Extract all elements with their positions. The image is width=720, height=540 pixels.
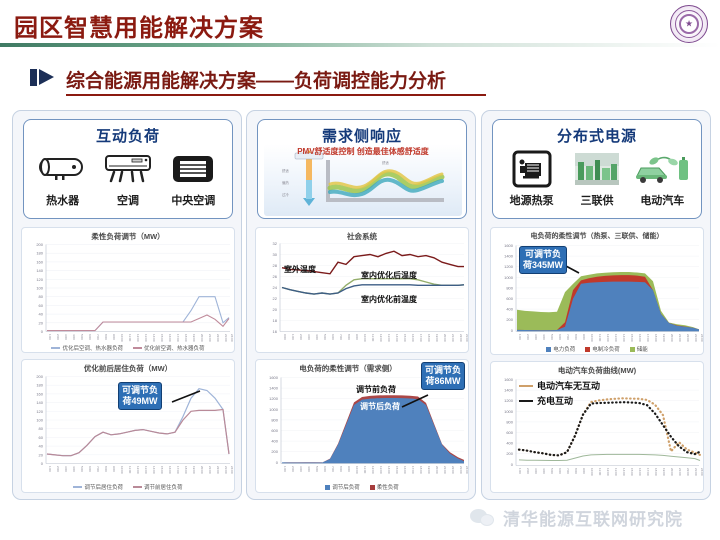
svg-text:24:00: 24:00 xyxy=(465,466,469,474)
legend-label: 调节后负荷 xyxy=(332,483,360,491)
svg-text:12:00: 12:00 xyxy=(606,334,610,342)
legend-label: 电力负荷 xyxy=(553,345,575,353)
section-subtitle-row: 综合能源用能解决方案——负荷调控能力分析 xyxy=(0,62,720,98)
svg-text:120: 120 xyxy=(36,277,43,282)
svg-text:10:00: 10:00 xyxy=(120,466,124,474)
svg-text:9:00: 9:00 xyxy=(582,334,586,340)
svg-text:10:00: 10:00 xyxy=(120,334,124,342)
svg-text:4:00: 4:00 xyxy=(542,468,546,474)
legend-swatch xyxy=(519,385,533,387)
icon-cell-ground-source-heat-pump: 地源热泵 xyxy=(500,148,564,208)
svg-text:1600: 1600 xyxy=(504,377,514,382)
icon-cell-water-heater: 热水器 xyxy=(31,148,95,208)
svg-text:20:00: 20:00 xyxy=(200,334,204,342)
svg-text:40: 40 xyxy=(39,312,44,317)
svg-text:0: 0 xyxy=(276,460,279,465)
svg-text:6:00: 6:00 xyxy=(323,466,327,472)
svg-text:6:00: 6:00 xyxy=(558,468,562,474)
icon-cell-air-conditioner: 空调 xyxy=(96,148,160,208)
svg-text:21:00: 21:00 xyxy=(208,466,212,474)
svg-text:3:00: 3:00 xyxy=(534,468,538,474)
svg-text:23:00: 23:00 xyxy=(694,468,698,476)
svg-text:15:00: 15:00 xyxy=(160,466,164,474)
svg-text:12:00: 12:00 xyxy=(136,466,140,474)
panel-demand-side-response: 需求侧响应 PMV舒适度控制 创造最佳体感舒适度 舒适偏热过冷 舒适 xyxy=(257,119,467,219)
icon-caption: 中央空调 xyxy=(161,192,225,208)
icon-caption: 电动汽车 xyxy=(630,192,694,208)
svg-text:2:00: 2:00 xyxy=(526,468,530,474)
svg-text:15:00: 15:00 xyxy=(160,334,164,342)
svg-text:14:00: 14:00 xyxy=(152,466,156,474)
svg-text:80: 80 xyxy=(39,294,44,299)
svg-text:21:00: 21:00 xyxy=(678,334,682,342)
svg-text:20:00: 20:00 xyxy=(670,334,674,342)
svg-text:12:00: 12:00 xyxy=(371,466,375,474)
svg-text:60: 60 xyxy=(39,303,44,308)
svg-text:23:00: 23:00 xyxy=(224,466,228,474)
legend-label: 调节后居住负荷 xyxy=(84,483,123,491)
legend-label: 电制冷负荷 xyxy=(592,345,620,353)
svg-text:16: 16 xyxy=(273,329,278,334)
callout-line-2: 荷345MW xyxy=(523,260,563,271)
icon-caption: 地源热泵 xyxy=(500,192,564,208)
svg-text:1:00: 1:00 xyxy=(48,466,52,472)
callout-line-1: 可调节负 xyxy=(122,385,158,396)
svg-text:舒适: 舒适 xyxy=(282,168,289,173)
panel-interactive-load: 互动负荷 热水器 xyxy=(23,119,233,219)
svg-text:0: 0 xyxy=(511,328,514,333)
svg-text:1:00: 1:00 xyxy=(283,466,287,472)
svg-text:800: 800 xyxy=(271,417,278,422)
callout-adjustable-load: 可调节负 荷49MW xyxy=(118,382,162,410)
svg-text:过冷: 过冷 xyxy=(282,192,289,197)
electric-vehicle-icon xyxy=(630,148,694,190)
column-demand-side-response: 需求侧响应 PMV舒适度控制 创造最佳体感舒适度 舒适偏热过冷 舒适 xyxy=(246,110,476,500)
svg-text:13:00: 13:00 xyxy=(144,466,148,474)
chart-residential-load: 优化前后居住负荷（MW） 200180160 140120100 806040 … xyxy=(21,359,235,493)
svg-text:30: 30 xyxy=(273,252,278,257)
svg-text:19:00: 19:00 xyxy=(435,334,439,342)
chart-electric-load-demand-side: 电负荷的柔性调节（需求侧） 160014001200 1000800600 40… xyxy=(255,359,469,493)
legend-label: 优化前空调、热水器负荷 xyxy=(144,344,205,352)
svg-text:18:00: 18:00 xyxy=(419,466,423,474)
svg-text:23:00: 23:00 xyxy=(459,466,463,474)
svg-text:5:00: 5:00 xyxy=(80,466,84,472)
svg-text:32: 32 xyxy=(273,241,278,246)
svg-text:6:00: 6:00 xyxy=(88,334,92,340)
svg-text:8:00: 8:00 xyxy=(574,334,578,340)
icon-cell-electric-vehicle: 电动汽车 xyxy=(630,148,694,208)
svg-text:1600: 1600 xyxy=(504,243,514,248)
svg-text:7:00: 7:00 xyxy=(96,334,100,340)
svg-text:17:00: 17:00 xyxy=(411,466,415,474)
svg-text:16:00: 16:00 xyxy=(638,334,642,342)
svg-text:9:00: 9:00 xyxy=(112,466,116,472)
svg-text:9:00: 9:00 xyxy=(582,468,586,474)
svg-text:13:00: 13:00 xyxy=(387,334,391,342)
svg-text:偏热: 偏热 xyxy=(282,180,289,185)
svg-text:3:00: 3:00 xyxy=(299,466,303,472)
svg-text:24:00: 24:00 xyxy=(700,468,704,476)
svg-text:14:00: 14:00 xyxy=(152,334,156,342)
svg-text:23:00: 23:00 xyxy=(694,334,698,342)
svg-text:17:00: 17:00 xyxy=(646,468,650,476)
legend-item-charging-interaction: 充电互动 xyxy=(519,394,573,407)
svg-text:0: 0 xyxy=(511,462,514,467)
svg-text:23:00: 23:00 xyxy=(224,334,228,342)
legend-label: 调节前居住负荷 xyxy=(144,483,183,491)
svg-text:19:00: 19:00 xyxy=(192,466,196,474)
svg-text:1200: 1200 xyxy=(504,398,514,403)
legend-label: 电动汽车无互动 xyxy=(537,379,600,392)
svg-text:24:00: 24:00 xyxy=(700,334,704,342)
legend-label: 充电互动 xyxy=(537,394,573,407)
svg-text:7:00: 7:00 xyxy=(566,468,570,474)
svg-text:160: 160 xyxy=(36,391,43,396)
svg-text:1200: 1200 xyxy=(504,264,514,269)
svg-text:22:00: 22:00 xyxy=(686,468,690,476)
svg-text:21:00: 21:00 xyxy=(678,468,682,476)
central-air-conditioner-icon xyxy=(161,148,225,190)
series-label-before-regulation: 调节前负荷 xyxy=(356,384,396,395)
svg-text:2:00: 2:00 xyxy=(291,466,295,472)
series-label-after-regulation: 调节后负荷 xyxy=(360,401,400,412)
svg-text:10:00: 10:00 xyxy=(355,466,359,474)
chart-flexible-load-regulation: 柔性负荷调节（MW） 200180160 140120100 806040 20… xyxy=(21,227,235,353)
svg-text:1000: 1000 xyxy=(269,407,279,412)
svg-text:24: 24 xyxy=(273,285,278,290)
svg-text:10:00: 10:00 xyxy=(363,334,367,342)
svg-text:1400: 1400 xyxy=(504,254,514,259)
icon-row: 热水器 空调 xyxy=(24,148,232,208)
legend-swatch xyxy=(519,400,533,402)
svg-text:22:00: 22:00 xyxy=(451,466,455,474)
bullet-marker-icon xyxy=(30,69,56,86)
icon-caption: 三联供 xyxy=(565,192,629,208)
svg-text:200: 200 xyxy=(506,451,513,456)
svg-text:15:00: 15:00 xyxy=(403,334,407,342)
svg-text:160: 160 xyxy=(36,259,43,264)
svg-text:6:00: 6:00 xyxy=(88,466,92,472)
svg-text:10:00: 10:00 xyxy=(590,334,594,342)
svg-text:15:00: 15:00 xyxy=(630,334,634,342)
svg-text:26: 26 xyxy=(273,274,278,279)
svg-text:1000: 1000 xyxy=(504,275,514,280)
svg-text:18:00: 18:00 xyxy=(654,468,658,476)
svg-text:0:00: 0:00 xyxy=(283,334,287,340)
icon-row: 地源热泵 三联供 xyxy=(493,148,701,208)
chart-legend: 调节后居住负荷 调节前居住负荷 xyxy=(22,483,234,491)
chart-legend: 电力负荷 电制冷负荷 储能 xyxy=(491,345,703,353)
svg-text:2:00: 2:00 xyxy=(299,334,303,340)
chart-ev-load-curve: 电动汽车负荷曲线(MW) 160014001200 1000800600 400… xyxy=(490,361,704,493)
svg-text:7:00: 7:00 xyxy=(566,334,570,340)
svg-text:7:00: 7:00 xyxy=(331,466,335,472)
svg-text:28: 28 xyxy=(273,263,278,268)
svg-text:400: 400 xyxy=(271,439,278,444)
svg-text:200: 200 xyxy=(36,374,43,379)
tsinghua-university-seal-icon: ★ xyxy=(670,5,708,43)
svg-text:600: 600 xyxy=(506,296,513,301)
chart-plot-area: 323028 262422 201816 0:001:00 2:003:00 4… xyxy=(256,228,469,353)
pmv-comfort-control-illustration: PMV舒适度控制 创造最佳体感舒适度 舒适偏热过冷 舒适 xyxy=(264,144,462,216)
svg-text:8:00: 8:00 xyxy=(104,466,108,472)
icon-cell-trigeneration: 三联供 xyxy=(565,148,629,208)
svg-text:21:00: 21:00 xyxy=(451,334,455,342)
svg-text:18: 18 xyxy=(273,318,278,323)
svg-text:60: 60 xyxy=(39,435,44,440)
svg-text:2:00: 2:00 xyxy=(526,334,530,340)
series-label-indoor-after: 室内优化后温度 xyxy=(361,270,417,281)
footer-branding: 清华能源互联网研究院 xyxy=(470,505,683,530)
svg-text:16:00: 16:00 xyxy=(411,334,415,342)
svg-text:9:00: 9:00 xyxy=(355,334,359,340)
svg-text:4:00: 4:00 xyxy=(72,466,76,472)
svg-text:16:00: 16:00 xyxy=(403,466,407,474)
svg-text:800: 800 xyxy=(506,419,513,424)
svg-text:120: 120 xyxy=(36,409,43,414)
svg-text:4:00: 4:00 xyxy=(542,334,546,340)
svg-text:24:00: 24:00 xyxy=(230,334,234,342)
svg-text:20:00: 20:00 xyxy=(435,466,439,474)
svg-text:20: 20 xyxy=(39,320,44,325)
svg-text:600: 600 xyxy=(271,428,278,433)
legend-label: 储能 xyxy=(637,345,648,353)
svg-text:17:00: 17:00 xyxy=(419,334,423,342)
svg-text:100: 100 xyxy=(36,286,43,291)
section-subtitle: 综合能源用能解决方案——负荷调控能力分析 xyxy=(66,66,446,93)
series-label-outdoor-temp: 室外温度 xyxy=(284,264,316,275)
svg-text:13:00: 13:00 xyxy=(144,334,148,342)
svg-text:180: 180 xyxy=(36,383,43,388)
svg-text:13:00: 13:00 xyxy=(614,468,618,476)
svg-text:14:00: 14:00 xyxy=(622,468,626,476)
svg-text:22:00: 22:00 xyxy=(216,334,220,342)
svg-text:22: 22 xyxy=(273,296,278,301)
svg-text:18:00: 18:00 xyxy=(184,466,188,474)
svg-text:14:00: 14:00 xyxy=(387,466,391,474)
panel-distributed-generation: 分布式电源 地源热泵 xyxy=(492,119,702,219)
svg-text:600: 600 xyxy=(506,430,513,435)
svg-text:2:00: 2:00 xyxy=(56,466,60,472)
svg-text:7:00: 7:00 xyxy=(339,334,343,340)
svg-text:17:00: 17:00 xyxy=(176,466,180,474)
svg-text:200: 200 xyxy=(36,242,43,247)
svg-text:11:00: 11:00 xyxy=(363,466,367,474)
callout-line-1: 可调节负 xyxy=(425,365,461,376)
svg-text:140: 140 xyxy=(36,400,43,405)
svg-text:8:00: 8:00 xyxy=(574,468,578,474)
svg-text:11:00: 11:00 xyxy=(371,334,375,342)
svg-text:3:00: 3:00 xyxy=(534,334,538,340)
column-distributed-generation: 分布式电源 地源热泵 xyxy=(481,110,711,500)
svg-text:11:00: 11:00 xyxy=(128,334,132,342)
svg-text:19:00: 19:00 xyxy=(427,466,431,474)
panel-title: 需求侧响应 xyxy=(258,125,466,146)
svg-text:5:00: 5:00 xyxy=(315,466,319,472)
svg-text:6:00: 6:00 xyxy=(331,334,335,340)
subtitle-underline xyxy=(66,94,486,96)
svg-text:14:00: 14:00 xyxy=(395,334,399,342)
svg-text:20: 20 xyxy=(39,452,44,457)
chart-electric-load-supply-side: 电负荷的柔性调节（热泵、三联供、储能） 160014001200 1000800… xyxy=(490,227,704,355)
svg-text:6:00: 6:00 xyxy=(558,334,562,340)
chart-social-system-temperature: 社会系统 323028 262422 201816 0:001:00 2:003… xyxy=(255,227,469,353)
svg-text:3:00: 3:00 xyxy=(307,334,311,340)
chart-plot-area: 200180160 140120100 806040 200 1:002:00 … xyxy=(22,360,235,493)
svg-text:8:00: 8:00 xyxy=(347,334,351,340)
wechat-icon xyxy=(470,508,496,528)
chart-legend: 调节后负荷 柔性负荷 xyxy=(256,483,468,491)
svg-text:24:00: 24:00 xyxy=(230,466,234,474)
svg-text:1:00: 1:00 xyxy=(518,468,522,474)
svg-text:14:00: 14:00 xyxy=(622,334,626,342)
svg-text:4:00: 4:00 xyxy=(72,334,76,340)
svg-text:2:00: 2:00 xyxy=(56,334,60,340)
svg-text:16:00: 16:00 xyxy=(168,466,172,474)
svg-text:19:00: 19:00 xyxy=(662,334,666,342)
callout-adjustable-load: 可调节负 荷86MW xyxy=(421,362,465,390)
svg-text:22:00: 22:00 xyxy=(216,466,220,474)
svg-text:10:00: 10:00 xyxy=(590,468,594,476)
svg-text:100: 100 xyxy=(36,418,43,423)
ground-source-heat-pump-icon xyxy=(500,148,564,190)
svg-text:舒适: 舒适 xyxy=(382,160,389,165)
slide-header: 园区智慧用能解决方案 ★ xyxy=(0,0,720,46)
chart-plot-area: 200180160 140120100 806040 200 1:002:00 … xyxy=(22,228,235,353)
svg-text:18:00: 18:00 xyxy=(184,334,188,342)
svg-text:5:00: 5:00 xyxy=(80,334,84,340)
svg-text:21:00: 21:00 xyxy=(208,334,212,342)
svg-text:16:00: 16:00 xyxy=(638,468,642,476)
svg-text:1:00: 1:00 xyxy=(518,334,522,340)
trigeneration-plant-photo xyxy=(565,148,629,190)
svg-text:15:00: 15:00 xyxy=(630,468,634,476)
svg-text:5:00: 5:00 xyxy=(550,468,554,474)
air-conditioner-icon xyxy=(96,148,160,190)
svg-text:3:00: 3:00 xyxy=(64,466,68,472)
svg-text:16:00: 16:00 xyxy=(168,334,172,342)
svg-text:18:00: 18:00 xyxy=(427,334,431,342)
svg-text:9:00: 9:00 xyxy=(112,334,116,340)
pmv-caption: PMV舒适度控制 创造最佳体感舒适度 xyxy=(264,146,462,157)
svg-text:18:00: 18:00 xyxy=(654,334,658,342)
svg-text:3:00: 3:00 xyxy=(64,334,68,340)
svg-text:1400: 1400 xyxy=(504,388,514,393)
svg-text:22:00: 22:00 xyxy=(686,334,690,342)
svg-text:23:00: 23:00 xyxy=(465,334,469,342)
svg-text:12:00: 12:00 xyxy=(379,334,383,342)
footer-text: 清华能源互联网研究院 xyxy=(503,505,683,530)
svg-text:5:00: 5:00 xyxy=(550,334,554,340)
svg-text:17:00: 17:00 xyxy=(646,334,650,342)
series-label-indoor-before: 室内优化前温度 xyxy=(361,294,417,305)
svg-text:1:00: 1:00 xyxy=(48,334,52,340)
legend-label: 优化后空调、热水器负荷 xyxy=(62,344,123,352)
svg-text:140: 140 xyxy=(36,268,43,273)
chart-legend: 优化后空调、热水器负荷 优化前空调、热水器负荷 xyxy=(22,344,234,352)
svg-text:20: 20 xyxy=(273,307,278,312)
svg-text:20:00: 20:00 xyxy=(670,468,674,476)
callout-line-1: 可调节负 xyxy=(523,249,563,260)
callout-adjustable-load: 可调节负 荷345MW xyxy=(519,246,567,274)
svg-text:19:00: 19:00 xyxy=(662,468,666,476)
svg-text:40: 40 xyxy=(39,444,44,449)
svg-text:4:00: 4:00 xyxy=(307,466,311,472)
svg-text:12:00: 12:00 xyxy=(136,334,140,342)
svg-text:11:00: 11:00 xyxy=(598,468,602,476)
svg-text:1200: 1200 xyxy=(269,396,279,401)
svg-text:0: 0 xyxy=(41,329,44,334)
callout-line-2: 荷86MW xyxy=(425,376,461,387)
svg-text:1:00: 1:00 xyxy=(291,334,295,340)
svg-text:19:00: 19:00 xyxy=(192,334,196,342)
svg-text:80: 80 xyxy=(39,426,44,431)
legend-label: 柔性负荷 xyxy=(377,483,399,491)
svg-text:0: 0 xyxy=(41,461,44,466)
svg-text:1600: 1600 xyxy=(269,375,279,380)
svg-text:800: 800 xyxy=(506,285,513,290)
svg-text:20:00: 20:00 xyxy=(443,334,447,342)
svg-text:180: 180 xyxy=(36,251,43,256)
svg-text:15:00: 15:00 xyxy=(395,466,399,474)
svg-text:9:00: 9:00 xyxy=(347,466,351,472)
icon-cell-central-air-conditioner: 中央空调 xyxy=(161,148,225,208)
icon-caption: 热水器 xyxy=(31,192,95,208)
svg-text:400: 400 xyxy=(506,307,513,312)
svg-text:13:00: 13:00 xyxy=(379,466,383,474)
header-divider xyxy=(0,43,720,47)
legend-item-ev-no-interaction: 电动汽车无互动 xyxy=(519,379,600,392)
svg-text:11:00: 11:00 xyxy=(128,466,132,474)
svg-text:22:00: 22:00 xyxy=(459,334,463,342)
page-title: 园区智慧用能解决方案 xyxy=(14,8,264,43)
svg-text:17:00: 17:00 xyxy=(176,334,180,342)
svg-text:1000: 1000 xyxy=(504,409,514,414)
svg-text:400: 400 xyxy=(506,441,513,446)
panel-title: 分布式电源 xyxy=(493,125,701,146)
svg-text:8:00: 8:00 xyxy=(339,466,343,472)
svg-text:12:00: 12:00 xyxy=(606,468,610,476)
svg-text:20:00: 20:00 xyxy=(200,466,204,474)
callout-line-2: 荷49MW xyxy=(122,396,158,407)
svg-text:11:00: 11:00 xyxy=(598,334,602,342)
svg-text:7:00: 7:00 xyxy=(96,466,100,472)
panel-title: 互动负荷 xyxy=(24,125,232,146)
water-heater-icon xyxy=(31,148,95,190)
svg-text:5:00: 5:00 xyxy=(323,334,327,340)
svg-text:13:00: 13:00 xyxy=(614,334,618,342)
svg-text:1400: 1400 xyxy=(269,386,279,391)
svg-text:4:00: 4:00 xyxy=(315,334,319,340)
column-interactive-load: 互动负荷 热水器 xyxy=(12,110,242,500)
icon-caption: 空调 xyxy=(96,192,160,208)
svg-text:200: 200 xyxy=(506,317,513,322)
svg-text:200: 200 xyxy=(271,449,278,454)
svg-text:8:00: 8:00 xyxy=(104,334,108,340)
svg-text:21:00: 21:00 xyxy=(443,466,447,474)
